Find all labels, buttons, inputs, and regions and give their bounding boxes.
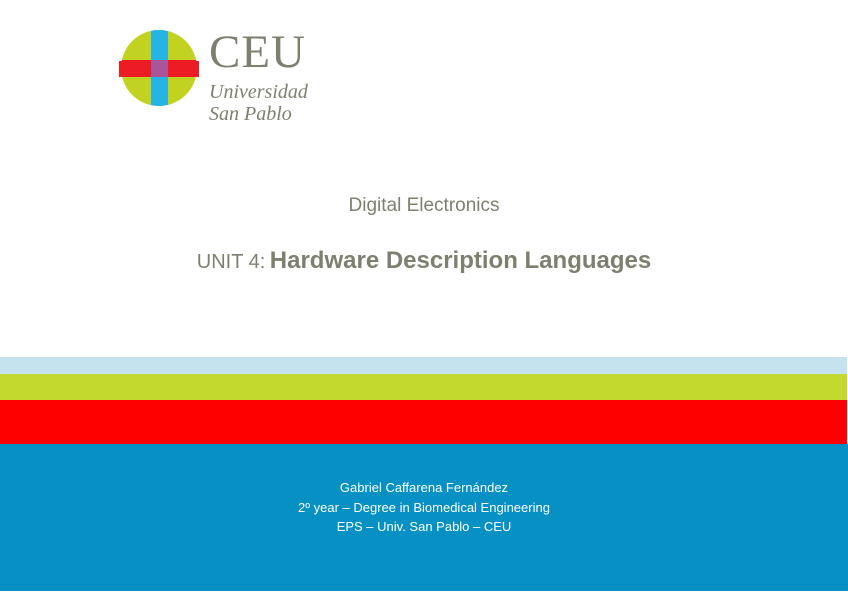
ceu-subtitle-line-2: San Pablo [209,103,389,125]
decorative-band-red [0,400,847,444]
course-title: Digital Electronics [0,195,848,217]
ceu-logo-mark-icon [121,30,197,106]
footer-program: 2º year – Degree in Biomedical Engineeri… [0,498,848,518]
decorative-band-light-blue [0,357,847,374]
unit-title-prefix: UNIT 4: [197,251,266,273]
presentation-slide: CEU Universidad San Pablo Digital Electr… [0,0,848,599]
footer-credits: Gabriel Caffarena Fernández 2º year – De… [0,478,848,537]
unit-title: UNIT 4: Hardware Description Languages [0,247,848,275]
ceu-wordmark: CEU Universidad San Pablo [209,29,389,125]
footer-institution: EPS – Univ. San Pablo – CEU [0,517,848,537]
decorative-band-green [0,374,847,400]
unit-title-name: Hardware Description Languages [270,247,651,274]
logo-cross-intersection-overlay-shape [151,61,168,77]
ceu-logo: CEU Universidad San Pablo [121,29,381,139]
ceu-subtitle: Universidad San Pablo [209,81,389,125]
ceu-subtitle-line-1: Universidad [209,81,389,103]
footer-author: Gabriel Caffarena Fernández [0,478,848,498]
ceu-wordmark-text: CEU [209,29,389,76]
